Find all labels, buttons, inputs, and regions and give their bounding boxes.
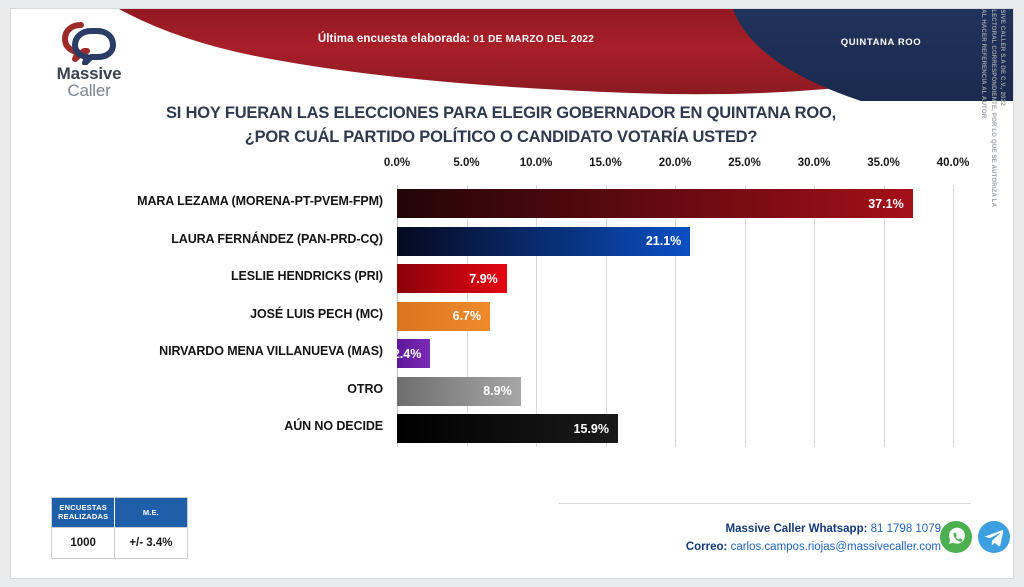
bar[interactable]: 15.9% xyxy=(397,414,618,443)
bar[interactable]: 21.1% xyxy=(397,227,690,256)
bar[interactable]: 2.4% xyxy=(397,339,430,368)
page-title-line1: SI HOY FUERAN LAS ELECCIONES PARA ELEGIR… xyxy=(51,101,951,125)
whatsapp-icon[interactable] xyxy=(939,520,973,554)
bar-category-label: LAURA FERNÁNDEZ (PAN-PRD-CQ) xyxy=(31,232,383,246)
bar-value-label: 6.7% xyxy=(453,309,482,323)
footer-whatsapp-line: Massive Caller Whatsapp: 81 1798 1079 xyxy=(651,521,941,539)
header-banner: Última encuesta elaborada: 01 DE MARZO D… xyxy=(11,9,1014,101)
bar[interactable]: 8.9% xyxy=(397,377,521,406)
header-date-label: Última encuesta elaborada: xyxy=(318,33,470,45)
table-header-encuestas: ENCUESTAS REALIZADAS xyxy=(52,498,115,528)
bar-category-label: JOSÉ LUIS PECH (MC) xyxy=(31,307,383,321)
x-axis-tick-8: 40.0% xyxy=(937,157,970,169)
chart-x-axis: 0.0%5.0%10.0%15.0%20.0%25.0%30.0%35.0%40… xyxy=(11,157,1014,179)
header-date-value: 01 DE MARZO DEL 2022 xyxy=(473,34,594,45)
massive-caller-logo-icon xyxy=(61,21,119,65)
footer-email-line: Correo: carlos.campos.riojas@massivecall… xyxy=(651,539,941,557)
footer-whatsapp-label: Massive Caller Whatsapp: xyxy=(726,523,868,535)
bar-category-label: LESLIE HENDRICKS (PRI) xyxy=(31,269,383,283)
chart-row: NIRVARDO MENA VILLANUEVA (MAS)2.4% xyxy=(11,335,1014,372)
brand-name-line1: Massive xyxy=(43,65,135,82)
sidenote-line2: ENCUESTA REGISTRADA ANTE EL ORGANO ELECT… xyxy=(990,8,997,207)
bar-value-label: 15.9% xyxy=(574,422,609,436)
footer-whatsapp-value[interactable]: 81 1798 1079 xyxy=(871,523,941,535)
poll-result-slide: Última encuesta elaborada: 01 DE MARZO D… xyxy=(10,8,1014,579)
x-axis-tick-2: 10.0% xyxy=(520,157,553,169)
footer-divider xyxy=(559,503,971,504)
sidenote-line1: D.R., (C) MASSIVE CALLER S.A DE C.V., 20… xyxy=(999,8,1006,106)
poll-bar-chart: 0.0%5.0%10.0%15.0%20.0%25.0%30.0%35.0%40… xyxy=(11,157,1014,457)
table-cell-sample-size: 1000 xyxy=(52,527,115,558)
x-axis-tick-1: 5.0% xyxy=(453,157,479,169)
table-row: 1000 +/- 3.4% xyxy=(52,527,188,558)
table-cell-margin-error: +/- 3.4% xyxy=(115,527,187,558)
brand-wordmark: Massive Caller xyxy=(43,65,135,99)
copyright-sidenote-text: D.R., (C) MASSIVE CALLER S.A DE C.V., 20… xyxy=(981,8,1007,227)
bar[interactable]: 37.1% xyxy=(397,189,913,218)
chart-row: MARA LEZAMA (MORENA-PT-PVEM-FPM)37.1% xyxy=(11,185,1014,222)
chart-row: OTRO8.9% xyxy=(11,373,1014,410)
table-header-encuestas-l2: REALIZADAS xyxy=(58,512,108,521)
bar-category-label: AÚN NO DECIDE xyxy=(31,419,383,433)
bar-value-label: 7.9% xyxy=(469,272,498,286)
page-title-line2: ¿POR CUÁL PARTIDO POLÍTICO O CANDIDATO V… xyxy=(51,125,951,149)
x-axis-tick-5: 25.0% xyxy=(728,157,761,169)
copyright-sidenote: D.R., (C) MASSIVE CALLER S.A DE C.V., 20… xyxy=(983,119,1009,509)
bar-category-label: NIRVARDO MENA VILLANUEVA (MAS) xyxy=(31,344,383,358)
x-axis-tick-4: 20.0% xyxy=(659,157,692,169)
chart-plot-area: MARA LEZAMA (MORENA-PT-PVEM-FPM)37.1%LAU… xyxy=(11,185,1014,447)
table-header-row: ENCUESTAS REALIZADAS M.E. xyxy=(52,498,188,528)
bar-category-label: MARA LEZAMA (MORENA-PT-PVEM-FPM) xyxy=(31,194,383,208)
footer-email-value[interactable]: carlos.campos.riojas@massivecaller.com xyxy=(731,541,941,553)
bar-value-label: 2.4% xyxy=(393,347,422,361)
bar[interactable]: 6.7% xyxy=(397,302,490,331)
table-header-me: M.E. xyxy=(115,498,187,528)
header-curve-shapes xyxy=(11,9,1014,101)
survey-stats-table: ENCUESTAS REALIZADAS M.E. 1000 +/- 3.4% xyxy=(51,497,188,559)
table-header-encuestas-l1: ENCUESTAS xyxy=(59,503,107,512)
header-state-label: QUINTANA ROO xyxy=(801,37,961,48)
chart-row: LAURA FERNÁNDEZ (PAN-PRD-CQ)21.1% xyxy=(11,223,1014,260)
footer-email-label: Correo: xyxy=(686,541,728,553)
x-axis-tick-6: 30.0% xyxy=(798,157,831,169)
x-axis-tick-7: 35.0% xyxy=(867,157,900,169)
footer-contact: Massive Caller Whatsapp: 81 1798 1079 Co… xyxy=(651,521,941,557)
bar-value-label: 21.1% xyxy=(646,234,681,248)
chart-row: LESLIE HENDRICKS (PRI)7.9% xyxy=(11,260,1014,297)
brand-name-line2: Caller xyxy=(43,82,135,99)
chart-row: JOSÉ LUIS PECH (MC)6.7% xyxy=(11,298,1014,335)
footer-social-icons xyxy=(939,520,1009,554)
header-date: Última encuesta elaborada: 01 DE MARZO D… xyxy=(241,33,671,45)
page-title: SI HOY FUERAN LAS ELECCIONES PARA ELEGIR… xyxy=(51,101,951,150)
bar-category-label: OTRO xyxy=(31,382,383,396)
bar-value-label: 8.9% xyxy=(483,384,512,398)
telegram-icon[interactable] xyxy=(977,520,1011,554)
chart-row: AÚN NO DECIDE15.9% xyxy=(11,410,1014,447)
sidenote-line3: REPRODUCCIÓN AL HACER REFERENCIA AL AUTO… xyxy=(980,8,987,118)
x-axis-tick-0: 0.0% xyxy=(384,157,410,169)
x-axis-tick-3: 15.0% xyxy=(589,157,622,169)
brand-logo: Massive Caller xyxy=(43,21,135,103)
bar[interactable]: 7.9% xyxy=(397,264,507,293)
bar-value-label: 37.1% xyxy=(868,197,903,211)
